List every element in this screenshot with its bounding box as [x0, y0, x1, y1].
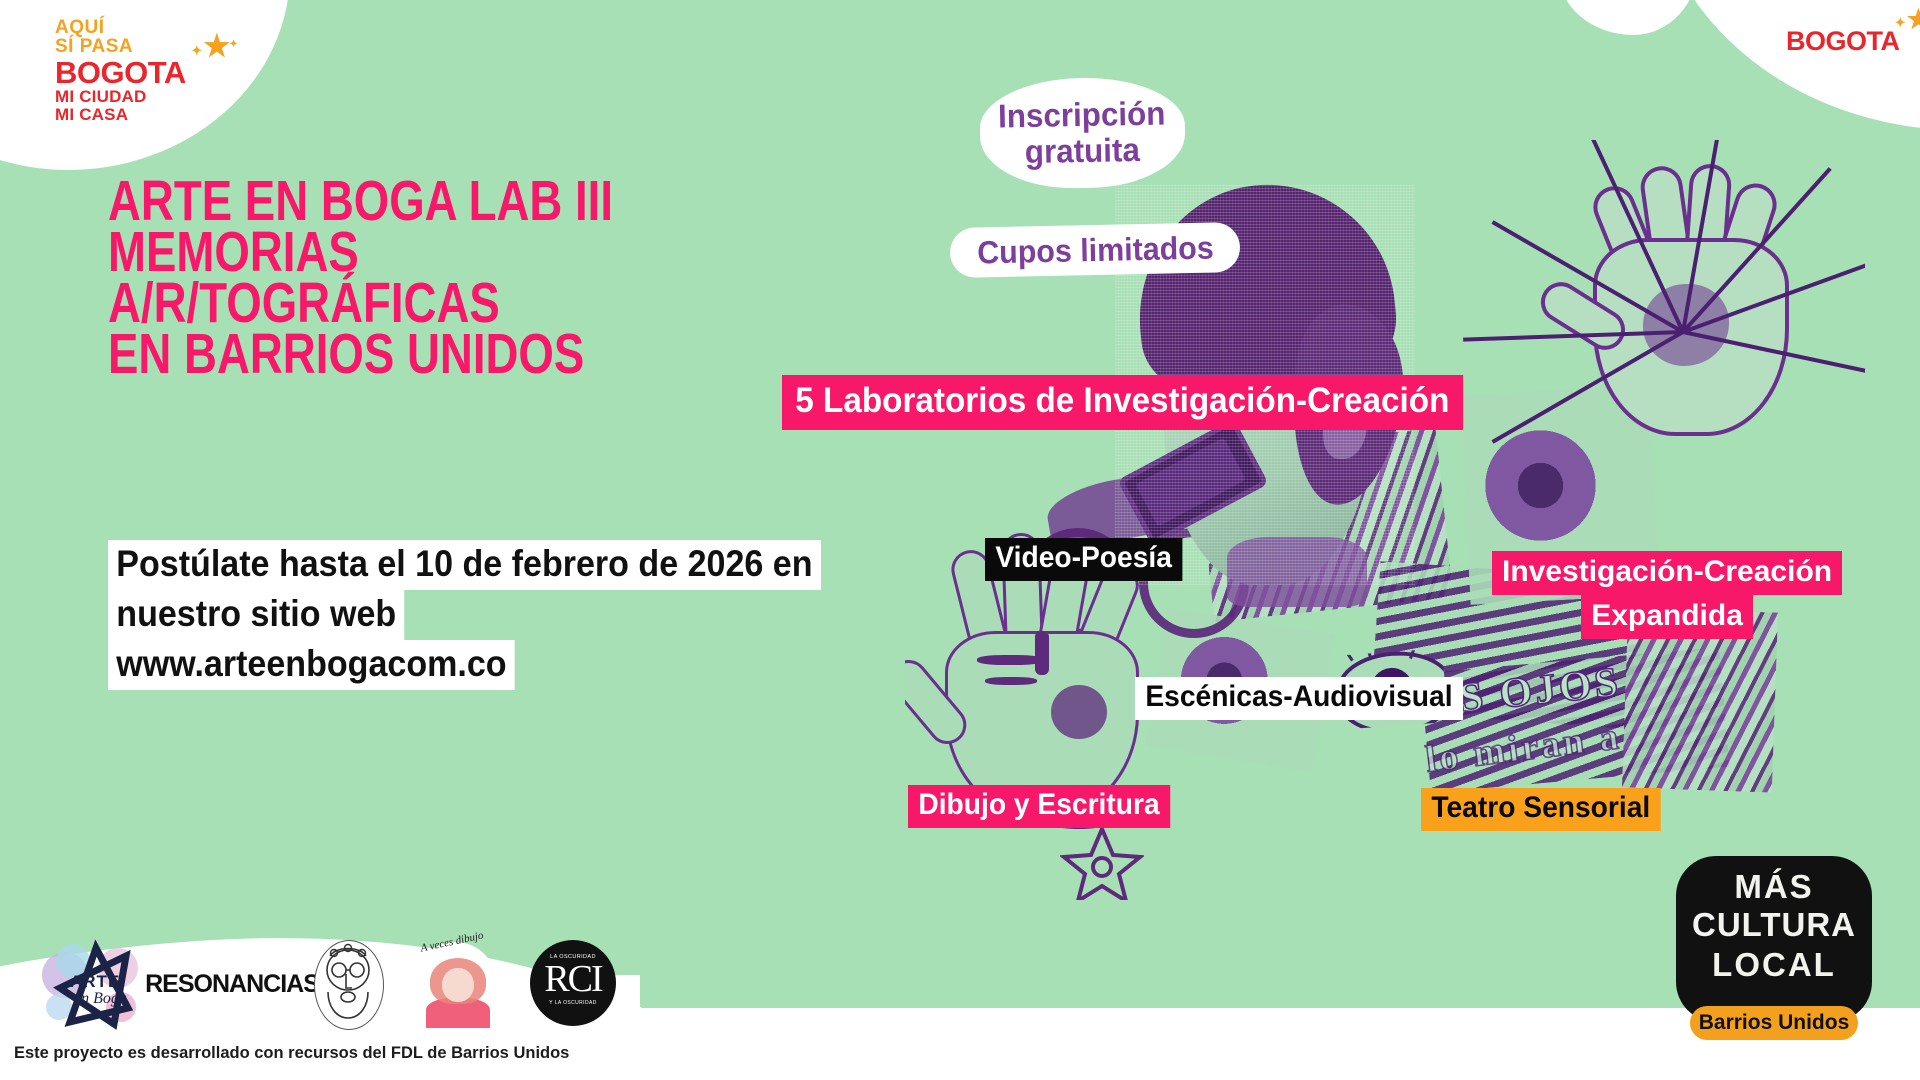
banner-laboratorios: 5 Laboratorios de Investigación-Creación	[782, 375, 1463, 430]
star-icon: ★✦✦	[203, 32, 229, 62]
logo-bogota-word-right: BOGOTA ★✦✦	[1786, 28, 1900, 54]
mcl-line1: MÁS	[1676, 870, 1872, 904]
star-icon: ★✦✦	[1907, 4, 1920, 34]
logo-si-pasa-line: SÍ PASA	[55, 37, 186, 56]
logo-rci: LA OSCURIDAD RCI Y LA OSCURIDAD	[526, 938, 614, 1030]
lab-tag-inv-line1: Investigación-Creación	[1492, 551, 1842, 595]
bogota-institutional-logo: AQUÍ SÍ PASA BOGOTA ★✦✦ MI CIUDAD MI CAS…	[55, 18, 186, 124]
lab-tag-video-poesia: Video-Poesía	[985, 538, 1182, 581]
lab-tag-teatro-sensorial: Teatro Sensorial	[1421, 788, 1661, 831]
logo-res-line2: NAN	[212, 973, 263, 996]
badge-inscripcion-gratuita: Inscripción gratuita	[979, 76, 1186, 190]
decorative-white-curve-top-right	[1650, 0, 1920, 130]
badge-free-line1: Inscripción	[998, 96, 1166, 135]
logo-face-drawing-collective	[306, 938, 390, 1030]
badge-limited-label: Cupos limitados	[976, 231, 1213, 270]
lab-tag-dibujo-y-escritura: Dibujo y Escritura	[908, 785, 1170, 828]
logo-bogota-text-right: BOGOT	[1786, 26, 1881, 56]
logo-res-line1: RESO	[145, 973, 212, 996]
logo-aeb-line2: en Boga	[74, 990, 127, 1008]
decorative-white-blob-top	[1558, 0, 1698, 35]
title-line-4: EN BARRIOS UNIDOS	[108, 329, 620, 380]
badge-free-line2: gratuita	[999, 132, 1167, 171]
logo-bogota-word: BOGOTA ★✦✦	[55, 58, 186, 88]
funding-credit-text: Este proyecto es desarrollado con recurs…	[14, 1044, 569, 1062]
logo-rci-mark: RCI	[530, 960, 616, 998]
logo-aeb-line1: ARTE	[70, 972, 120, 992]
page-title: ARTE EN BOGA LAB III MEMORIAS A/R/TOGRÁF…	[108, 176, 748, 380]
logo-mi-casa: MI CASA	[55, 106, 186, 124]
logo-bogota-tail: A	[164, 55, 186, 90]
lead-line-2: nuestro sitio web	[108, 590, 404, 640]
mcl-locality-strip: Barrios Unidos	[1690, 1006, 1858, 1040]
badge-mas-cultura-local: MÁS CULTURA LOCAL Barrios Unidos	[1676, 856, 1872, 1052]
website-url[interactable]: www.arteenbogacom.co	[108, 640, 515, 690]
collage-hand-with-rays-drawing	[1565, 180, 1815, 445]
partner-logos-row: ARTE en Boga RESO NAN CIAS	[40, 938, 614, 1030]
poster-canvas: LOS OJOS lo miran a AQUÍ SÍ PASA BOGOTA …	[0, 0, 1920, 1080]
lab-tag-escenicas-audiovisual: Escénicas-Audiovisual	[1135, 677, 1463, 720]
logo-bogota-text: BOGOT	[55, 55, 164, 90]
badge-cupos-limitados: Cupos limitados	[950, 222, 1241, 278]
logo-aqui-line: AQUÍ	[55, 18, 186, 37]
logo-a-veces-dibujo: A veces dibujo	[412, 938, 504, 1030]
call-to-action-text: Postúlate hasta el 10 de febrero de 2026…	[108, 540, 848, 690]
lab-tag-investigacion-creacion-expandida: Investigación-Creación Expandida	[1492, 551, 1842, 639]
mcl-line3: LOCAL	[1676, 948, 1872, 982]
logo-resonancias: RESO NAN CIAS	[180, 938, 284, 1030]
lab-tag-inv-line2: Expandida	[1581, 595, 1753, 639]
mcl-locality-label: Barrios Unidos	[1699, 1012, 1850, 1034]
mcl-line2: CULTURA	[1676, 908, 1872, 942]
logo-mi-ciudad: MI CIUDAD	[55, 88, 186, 106]
collage-star-charm	[1060, 825, 1144, 900]
logo-arte-en-boga: ARTE en Boga	[40, 938, 158, 1030]
bogota-logo-top-right: BOGOTA ★✦✦	[1786, 26, 1900, 54]
logo-rci-bottom: Y LA OSCURIDAD	[530, 1000, 616, 1006]
lead-line-1: Postúlate hasta el 10 de febrero de 2026…	[108, 540, 821, 590]
